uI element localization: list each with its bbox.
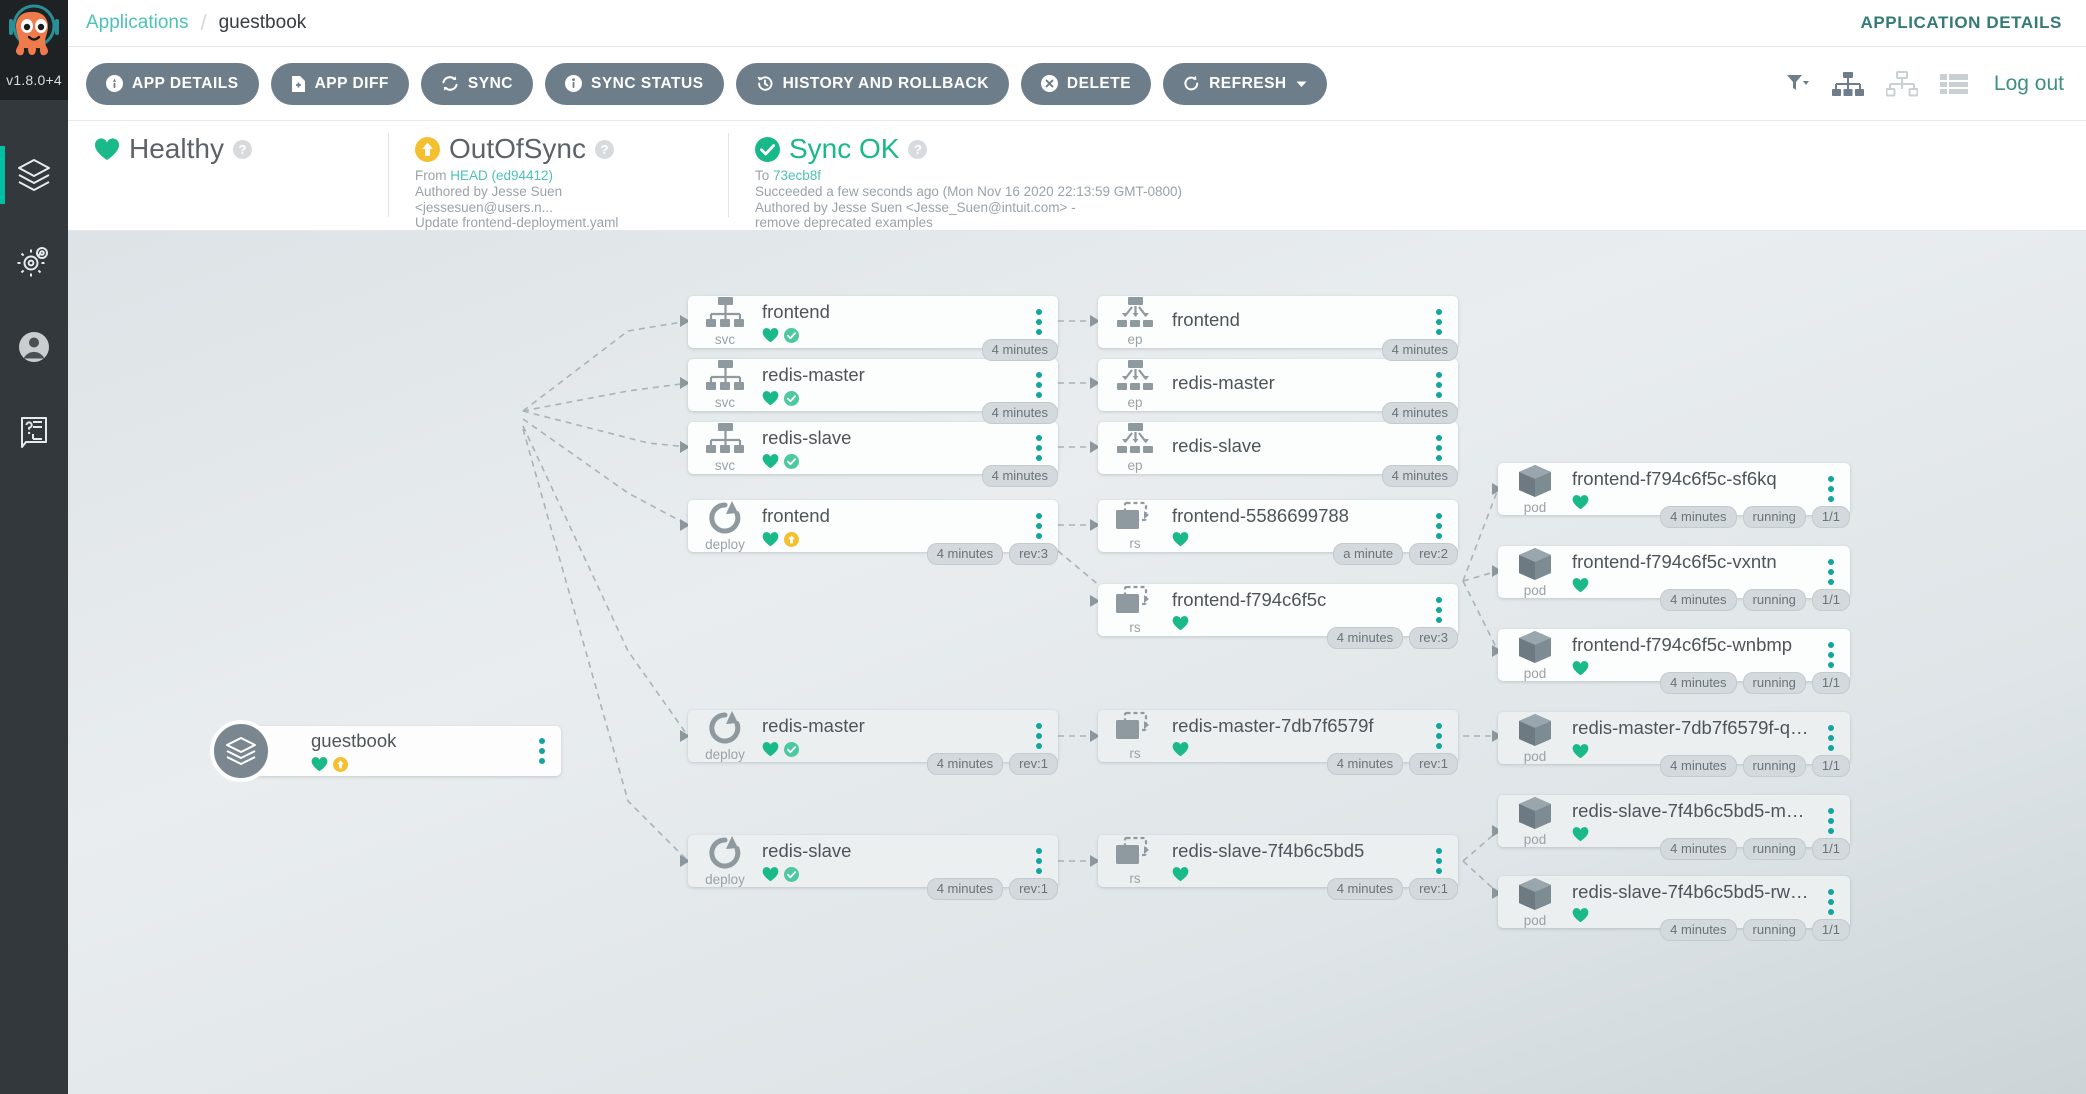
top-bar: Applications / guestbook APPLICATION DET… xyxy=(68,0,2086,47)
node-tag: running xyxy=(1743,589,1806,611)
health-status-cell: Healthy ? xyxy=(68,133,388,217)
node-tag: running xyxy=(1743,838,1806,860)
node-name: frontend-5586699788 xyxy=(1172,505,1418,527)
operation-revision-link[interactable]: 73ecb8f xyxy=(773,168,821,183)
node-kind-label: rs xyxy=(1129,746,1140,761)
app-root-card[interactable]: guestbook xyxy=(241,726,561,776)
node-tags: 4 minutes xyxy=(982,465,1058,487)
node-body: redis-master-7db7f6579f-q5v8s xyxy=(1572,717,1818,759)
operation-status-cell: Sync OK ? To 73ecb8f Succeeded a few sec… xyxy=(728,133,1288,217)
node-name: redis-slave-7f4b6c5bd5-mrlt4 xyxy=(1572,800,1810,822)
gear-icon xyxy=(15,242,53,280)
node-menu-button[interactable] xyxy=(1426,309,1452,335)
delete-button[interactable]: DELETE xyxy=(1021,63,1151,105)
filter-icon[interactable] xyxy=(1786,73,1810,95)
node-body: redis-slave-7f4b6c5bd5-rwhps xyxy=(1572,881,1818,923)
node-tags: 4 minutes xyxy=(1382,339,1458,361)
node-menu-button[interactable] xyxy=(1026,723,1052,749)
node-kind-label: rs xyxy=(1129,871,1140,886)
node-menu-button[interactable] xyxy=(1426,372,1452,398)
node-name: frontend-f794c6f5c xyxy=(1172,589,1418,611)
app-root-status-icons xyxy=(311,756,521,772)
node-name: redis-master xyxy=(762,364,1018,386)
node-tag: running xyxy=(1743,506,1806,528)
resource-node-rs-redis-slave-7f4b6c5bd5[interactable]: rs redis-slave-7f4b6c5bd5 4 minutesrev:1 xyxy=(1098,835,1458,887)
info-icon xyxy=(106,75,123,92)
sync-status-cell: OutOfSync ? From HEAD (ed94412) Authored… xyxy=(388,133,728,217)
rs-resource-icon: rs xyxy=(1098,711,1172,761)
app-root-avatar xyxy=(210,720,272,782)
info-icon xyxy=(565,75,582,92)
refresh-button-label: REFRESH xyxy=(1209,75,1287,93)
node-body: frontend-f794c6f5c-vxntn xyxy=(1572,551,1818,593)
refresh-button[interactable]: REFRESH xyxy=(1163,63,1327,105)
node-tag: 4 minutes xyxy=(1660,919,1736,941)
node-card[interactable]: deploy frontend 4 minutesrev:3 xyxy=(688,500,1058,552)
node-tags: 4 minutes xyxy=(1382,465,1458,487)
breadcrumb-current-app: guestbook xyxy=(219,12,307,34)
operation-message-line: remove deprecated examples xyxy=(755,215,1262,231)
node-tags: 4 minutesrunning1/1 xyxy=(1660,755,1850,777)
sync-author-line: Authored by Jesse Suen <jessesuen@users.… xyxy=(415,184,702,216)
node-kind-label: deploy xyxy=(705,537,745,552)
resource-node-ep-frontend[interactable]: ep frontend 4 minutes xyxy=(1098,296,1458,348)
heart-icon xyxy=(1572,494,1589,510)
help-book-icon xyxy=(17,415,51,451)
sidebar-item-user-info[interactable] xyxy=(0,304,68,390)
node-tags: 4 minutesrev:3 xyxy=(1327,627,1458,649)
list-view-icon[interactable] xyxy=(1940,72,1968,96)
resource-node-svc-redis-slave[interactable]: svc redis-slave 4 minutes xyxy=(688,422,1058,474)
layers-icon xyxy=(14,155,54,195)
node-status-icons xyxy=(762,453,1018,469)
node-body: frontend-f794c6f5c xyxy=(1172,589,1426,631)
node-body: frontend xyxy=(762,505,1026,547)
resource-node-ep-redis-master[interactable]: ep redis-master 4 minutes xyxy=(1098,359,1458,411)
help-icon[interactable]: ? xyxy=(233,140,252,159)
page-title: APPLICATION DETAILS xyxy=(1860,13,2062,33)
node-kind-label: rs xyxy=(1129,620,1140,635)
node-tags: 4 minutes xyxy=(1382,402,1458,424)
deploy-resource-icon: deploy xyxy=(688,835,762,887)
node-body: frontend-5586699788 xyxy=(1172,505,1426,547)
operation-author-line: Authored by Jesse Suen <Jesse_Suen@intui… xyxy=(755,200,1262,216)
node-name: frontend-f794c6f5c-wnbmp xyxy=(1572,634,1810,656)
node-tag: 4 minutes xyxy=(982,339,1058,361)
node-card[interactable]: pod frontend-f794c6f5c-sf6kq 4 minutesru… xyxy=(1498,463,1850,515)
check-circle-icon xyxy=(784,454,799,469)
help-icon[interactable]: ? xyxy=(595,140,614,159)
node-card[interactable]: svc redis-slave 4 minutes xyxy=(688,422,1058,474)
pod-resource-icon: pod xyxy=(1498,546,1572,598)
sync-button[interactable]: SYNC xyxy=(421,63,533,105)
node-tag: 4 minutes xyxy=(1382,465,1458,487)
rs-resource-icon: rs xyxy=(1098,836,1172,886)
node-card[interactable]: ep frontend 4 minutes xyxy=(1098,296,1458,348)
node-menu-button[interactable] xyxy=(1426,723,1452,749)
node-tag: running xyxy=(1743,672,1806,694)
node-tag: 1/1 xyxy=(1812,589,1850,611)
pod-resource-icon: pod xyxy=(1498,463,1572,515)
node-tag: rev:3 xyxy=(1009,543,1058,565)
sidebar-item-applications[interactable] xyxy=(0,132,68,218)
node-tag: 4 minutes xyxy=(1382,339,1458,361)
node-tags: a minuterev:2 xyxy=(1333,543,1458,565)
node-tags: 4 minutesrunning1/1 xyxy=(1660,589,1850,611)
resource-node-pod-redis-master-q5v8s[interactable]: pod redis-master-7db7f6579f-q5v8s 4 minu… xyxy=(1498,712,1850,764)
node-body: redis-slave xyxy=(1172,435,1426,461)
node-tag: a minute xyxy=(1333,543,1403,565)
deploy-resource-icon: deploy xyxy=(688,710,762,762)
pod-resource-icon: pod xyxy=(1498,795,1572,847)
node-tag: 4 minutes xyxy=(927,753,1003,775)
delete-button-label: DELETE xyxy=(1067,75,1131,93)
pod-resource-icon: pod xyxy=(1498,629,1572,681)
node-kind-label: rs xyxy=(1129,536,1140,551)
node-body: redis-master xyxy=(762,715,1026,757)
node-tags: 4 minutes xyxy=(982,402,1058,424)
node-tag: 4 minutes xyxy=(1382,402,1458,424)
node-card[interactable]: pod redis-slave-7f4b6c5bd5-rwhps 4 minut… xyxy=(1498,876,1850,928)
app-root-body: guestbook xyxy=(311,730,529,772)
heart-icon xyxy=(1572,743,1589,759)
node-tag: 4 minutes xyxy=(982,402,1058,424)
sidebar-item-documentation[interactable] xyxy=(0,390,68,476)
node-tags: 4 minutesrev:3 xyxy=(927,543,1058,565)
node-name: redis-slave xyxy=(762,427,1018,449)
node-name: frontend-f794c6f5c-vxntn xyxy=(1572,551,1810,573)
node-tag: 4 minutes xyxy=(1660,672,1736,694)
node-kind-label: pod xyxy=(1524,749,1547,764)
node-tag: rev:1 xyxy=(1409,753,1458,775)
node-card[interactable]: pod frontend-f794c6f5c-wnbmp 4 minutesru… xyxy=(1498,629,1850,681)
caret-down-icon xyxy=(1296,80,1307,88)
resource-node-pod-frontend-wnbmp[interactable]: pod frontend-f794c6f5c-wnbmp 4 minutesru… xyxy=(1498,629,1850,681)
node-tag: rev:1 xyxy=(1009,753,1058,775)
node-tag: 1/1 xyxy=(1812,506,1850,528)
node-status-icons xyxy=(762,327,1018,343)
node-name: frontend xyxy=(762,301,1018,323)
heart-icon xyxy=(94,137,120,161)
node-menu-button[interactable] xyxy=(1026,848,1052,874)
heart-icon xyxy=(762,741,779,757)
node-tag: 4 minutes xyxy=(1327,753,1403,775)
node-tags: 4 minutesrunning1/1 xyxy=(1660,838,1850,860)
node-kind-label: ep xyxy=(1127,332,1142,347)
node-tag: 1/1 xyxy=(1812,755,1850,777)
breadcrumb-separator: / xyxy=(200,10,206,36)
node-name: frontend-f794c6f5c-sf6kq xyxy=(1572,468,1810,490)
resource-node-pod-redis-slave-rwhps[interactable]: pod redis-slave-7f4b6c5bd5-rwhps 4 minut… xyxy=(1498,876,1850,928)
sync-status-label: OutOfSync xyxy=(449,133,586,165)
node-name: redis-slave xyxy=(1172,435,1418,457)
node-tag: running xyxy=(1743,919,1806,941)
check-circle-icon xyxy=(755,137,780,162)
node-menu-button[interactable] xyxy=(1426,513,1452,539)
node-name: redis-master xyxy=(762,715,1018,737)
node-status-icons xyxy=(762,390,1018,406)
breadcrumb-applications-link[interactable]: Applications xyxy=(86,12,188,34)
heart-icon xyxy=(762,327,779,343)
node-tags: 4 minutesrev:1 xyxy=(1327,753,1458,775)
app-root-name: guestbook xyxy=(311,730,521,752)
left-sidebar: v1.8.0+4 xyxy=(0,0,68,1094)
node-tag: 4 minutes xyxy=(1660,755,1736,777)
node-menu-button[interactable] xyxy=(1426,597,1452,623)
node-menu-button[interactable] xyxy=(1026,513,1052,539)
ep-resource-icon: ep xyxy=(1098,297,1172,347)
heart-icon xyxy=(1172,615,1189,631)
resource-node-rs-frontend-5586699788[interactable]: rs frontend-5586699788 a minuterev:2 xyxy=(1098,500,1458,552)
svc-resource-icon: svc xyxy=(688,360,762,410)
layers-icon xyxy=(224,735,258,767)
heart-icon xyxy=(1172,531,1189,547)
resource-node-dep-redis-master[interactable]: deploy redis-master 4 minutesrev:1 xyxy=(688,710,1058,762)
node-body: redis-master xyxy=(1172,372,1426,398)
operation-revision-line: To 73ecb8f xyxy=(755,168,1262,184)
heart-icon xyxy=(762,453,779,469)
resource-node-dep-frontend[interactable]: deploy frontend 4 minutesrev:3 xyxy=(688,500,1058,552)
node-kind-label: pod xyxy=(1524,666,1547,681)
node-card[interactable]: pod frontend-f794c6f5c-vxntn 4 minutesru… xyxy=(1498,546,1850,598)
resource-tree-canvas[interactable]: guestbook svc xyxy=(68,231,2086,1094)
node-card[interactable]: ep redis-master 4 minutes xyxy=(1098,359,1458,411)
node-kind-label: svc xyxy=(715,395,735,410)
node-tag: 1/1 xyxy=(1812,919,1850,941)
node-name: frontend xyxy=(762,505,1018,527)
node-card[interactable]: rs redis-slave-7f4b6c5bd5 4 minutesrev:1 xyxy=(1098,835,1458,887)
node-card[interactable]: deploy redis-slave 4 minutesrev:1 xyxy=(688,835,1058,887)
node-kind-label: pod xyxy=(1524,500,1547,515)
out-of-sync-arrow-icon xyxy=(333,757,348,772)
sync-status-button[interactable]: SYNC STATUS xyxy=(545,63,724,105)
node-tags: 4 minutesrunning1/1 xyxy=(1660,672,1850,694)
user-icon xyxy=(15,328,53,366)
node-tag: 4 minutes xyxy=(1660,838,1736,860)
file-diff-icon xyxy=(291,75,306,93)
heart-icon xyxy=(1572,577,1589,593)
resource-node-ep-redis-slave[interactable]: ep redis-slave 4 minutes xyxy=(1098,422,1458,474)
resource-node-pod-redis-slave-mrlt4[interactable]: pod redis-slave-7f4b6c5bd5-mrlt4 4 minut… xyxy=(1498,795,1850,847)
app-details-button-label: APP DETAILS xyxy=(132,75,239,93)
node-tag: rev:3 xyxy=(1409,627,1458,649)
node-body: redis-slave xyxy=(762,427,1026,469)
check-circle-icon xyxy=(784,391,799,406)
node-tag: 4 minutes xyxy=(1660,506,1736,528)
node-kind-label: svc xyxy=(715,458,735,473)
node-kind-label: pod xyxy=(1524,583,1547,598)
node-menu-button[interactable] xyxy=(1026,435,1052,461)
logout-link[interactable]: Log out xyxy=(1994,72,2064,96)
node-body: frontend xyxy=(1172,309,1426,335)
sidebar-nav xyxy=(0,132,68,476)
delete-x-icon xyxy=(1041,75,1058,92)
node-tag: 4 minutes xyxy=(927,543,1003,565)
app-root-menu-button[interactable] xyxy=(529,738,555,764)
node-body: redis-slave xyxy=(762,840,1026,882)
node-card[interactable]: svc frontend 4 minutes xyxy=(688,296,1058,348)
node-card[interactable]: svc redis-master 4 minutes xyxy=(688,359,1058,411)
heart-icon xyxy=(1172,866,1189,882)
resource-node-svc-redis-master[interactable]: svc redis-master 4 minutes xyxy=(688,359,1058,411)
node-name: redis-master-7db7f6579f-q5v8s xyxy=(1572,717,1810,739)
heart-icon xyxy=(762,866,779,882)
history-icon xyxy=(756,75,774,92)
ep-resource-icon: ep xyxy=(1098,360,1172,410)
node-tag: 4 minutes xyxy=(982,465,1058,487)
node-menu-button[interactable] xyxy=(1818,642,1844,668)
help-icon[interactable]: ? xyxy=(908,140,927,159)
node-tags: 4 minutesrev:1 xyxy=(927,753,1058,775)
node-menu-button[interactable] xyxy=(1426,435,1452,461)
node-name: redis-slave-7f4b6c5bd5 xyxy=(1172,840,1418,862)
node-name: redis-master-7db7f6579f xyxy=(1172,715,1418,737)
node-card[interactable]: rs frontend-5586699788 a minuterev:2 xyxy=(1098,500,1458,552)
rs-resource-icon: rs xyxy=(1098,501,1172,551)
operation-status-label: Sync OK xyxy=(789,133,899,165)
node-body: frontend-f794c6f5c-sf6kq xyxy=(1572,468,1818,510)
sync-icon xyxy=(441,75,459,92)
node-tag: 4 minutes xyxy=(927,878,1003,900)
node-menu-button[interactable] xyxy=(1818,808,1844,834)
resource-node-pod-frontend-sf6kq[interactable]: pod frontend-f794c6f5c-sf6kq 4 minutesru… xyxy=(1498,463,1850,515)
sync-message-line: Update frontend-deployment.yaml xyxy=(415,215,702,231)
node-tag: 4 minutes xyxy=(1660,589,1736,611)
refresh-icon xyxy=(1183,75,1200,92)
version-label: v1.8.0+4 xyxy=(6,72,62,88)
view-switcher: Log out xyxy=(1786,71,2064,97)
svc-resource-icon: svc xyxy=(688,423,762,473)
node-tag: 4 minutes xyxy=(1327,627,1403,649)
tree-view-icon[interactable] xyxy=(1832,71,1864,97)
heart-icon xyxy=(1572,907,1589,923)
deploy-resource-icon: deploy xyxy=(688,500,762,552)
svc-resource-icon: svc xyxy=(688,297,762,347)
node-card[interactable]: deploy redis-master 4 minutesrev:1 xyxy=(688,710,1058,762)
app-status-panel: Healthy ? OutOfSync ? From HEAD (ed94412… xyxy=(68,121,2086,231)
node-kind-label: deploy xyxy=(705,872,745,887)
heart-icon xyxy=(762,531,779,547)
node-tag: running xyxy=(1743,755,1806,777)
heart-icon xyxy=(1572,826,1589,842)
pod-resource-icon: pod xyxy=(1498,876,1572,928)
resource-node-dep-redis-slave[interactable]: deploy redis-slave 4 minutesrev:1 xyxy=(688,835,1058,887)
out-of-sync-arrow-icon xyxy=(784,532,799,547)
argocd-logo-block: v1.8.0+4 xyxy=(0,0,68,100)
sync-status-button-label: SYNC STATUS xyxy=(591,75,704,93)
node-kind-label: svc xyxy=(715,332,735,347)
node-tag: 4 minutes xyxy=(1327,878,1403,900)
ep-resource-icon: ep xyxy=(1098,423,1172,473)
node-tag: rev:1 xyxy=(1009,878,1058,900)
node-body: frontend xyxy=(762,301,1026,343)
resource-node-rs-redis-master-7db7f6579f[interactable]: rs redis-master-7db7f6579f 4 minutesrev:… xyxy=(1098,710,1458,762)
node-body: redis-slave-7f4b6c5bd5 xyxy=(1172,840,1426,882)
check-circle-icon xyxy=(784,867,799,882)
node-tags: 4 minutesrunning1/1 xyxy=(1660,919,1850,941)
breadcrumb: Applications / guestbook xyxy=(86,10,306,36)
node-card[interactable]: pod redis-master-7db7f6579f-q5v8s 4 minu… xyxy=(1498,712,1850,764)
app-diff-button[interactable]: APP DIFF xyxy=(271,63,409,105)
resource-node-svc-frontend[interactable]: svc frontend 4 minutes xyxy=(688,296,1058,348)
out-of-sync-arrow-icon xyxy=(415,137,440,162)
node-tag: 1/1 xyxy=(1812,672,1850,694)
node-card[interactable]: rs redis-master-7db7f6579f 4 minutesrev:… xyxy=(1098,710,1458,762)
app-diff-button-label: APP DIFF xyxy=(315,75,389,93)
action-toolbar: APP DETAILS APP DIFF SYNC xyxy=(68,47,2086,121)
node-kind-label: ep xyxy=(1127,395,1142,410)
resource-node-pod-frontend-vxntn[interactable]: pod frontend-f794c6f5c-vxntn 4 minutesru… xyxy=(1498,546,1850,598)
node-body: redis-master-7db7f6579f xyxy=(1172,715,1426,757)
node-tags: 4 minutesrunning1/1 xyxy=(1660,506,1850,528)
node-name: redis-slave xyxy=(762,840,1018,862)
rs-resource-icon: rs xyxy=(1098,585,1172,635)
node-menu-button[interactable] xyxy=(1818,559,1844,585)
sync-revision-link[interactable]: HEAD (ed94412) xyxy=(450,168,553,183)
sidebar-item-settings[interactable] xyxy=(0,218,68,304)
heart-icon xyxy=(311,756,328,772)
history-and-rollback-button[interactable]: HISTORY AND ROLLBACK xyxy=(736,63,1009,105)
node-card[interactable]: pod redis-slave-7f4b6c5bd5-mrlt4 4 minut… xyxy=(1498,795,1850,847)
node-name: redis-master xyxy=(1172,372,1418,394)
sync-button-label: SYNC xyxy=(468,75,513,93)
node-kind-label: deploy xyxy=(705,747,745,762)
health-status-label: Healthy xyxy=(129,133,224,165)
operation-time-line: Succeeded a few seconds ago (Mon Nov 16 … xyxy=(755,184,1262,200)
node-menu-button[interactable] xyxy=(1818,889,1844,915)
node-kind-label: pod xyxy=(1524,913,1547,928)
heart-icon xyxy=(1572,660,1589,676)
node-body: frontend-f794c6f5c-wnbmp xyxy=(1572,634,1818,676)
node-menu-button[interactable] xyxy=(1026,309,1052,335)
node-kind-label: pod xyxy=(1524,832,1547,847)
node-tags: 4 minutesrev:1 xyxy=(1327,878,1458,900)
node-tags: 4 minutes xyxy=(982,339,1058,361)
node-menu-button[interactable] xyxy=(1426,848,1452,874)
node-body: redis-master xyxy=(762,364,1026,406)
pod-resource-icon: pod xyxy=(1498,712,1572,764)
history-and-rollback-button-label: HISTORY AND ROLLBACK xyxy=(783,75,989,93)
node-card[interactable]: ep redis-slave 4 minutes xyxy=(1098,422,1458,474)
app-details-button[interactable]: APP DETAILS xyxy=(86,63,259,105)
node-kind-label: ep xyxy=(1127,458,1142,473)
network-view-icon[interactable] xyxy=(1886,71,1918,97)
node-name: frontend xyxy=(1172,309,1418,331)
check-circle-icon xyxy=(784,742,799,757)
node-name: redis-slave-7f4b6c5bd5-rwhps xyxy=(1572,881,1810,903)
argo-octopus-logo-icon xyxy=(6,4,62,70)
sync-revision-line: From HEAD (ed94412) xyxy=(415,168,702,184)
check-circle-icon xyxy=(784,328,799,343)
node-tag: rev:2 xyxy=(1409,543,1458,565)
node-tag: rev:1 xyxy=(1409,878,1458,900)
node-card[interactable]: rs frontend-f794c6f5c 4 minutesrev:3 xyxy=(1098,584,1458,636)
node-menu-button[interactable] xyxy=(1818,725,1844,751)
resource-node-rs-frontend-f794c6f5c[interactable]: rs frontend-f794c6f5c 4 minutesrev:3 xyxy=(1098,584,1458,636)
node-menu-button[interactable] xyxy=(1818,476,1844,502)
node-body: redis-slave-7f4b6c5bd5-mrlt4 xyxy=(1572,800,1818,842)
heart-icon xyxy=(762,390,779,406)
heart-icon xyxy=(1172,741,1189,757)
node-tags: 4 minutesrev:1 xyxy=(927,878,1058,900)
node-tag: 1/1 xyxy=(1812,838,1850,860)
node-menu-button[interactable] xyxy=(1026,372,1052,398)
